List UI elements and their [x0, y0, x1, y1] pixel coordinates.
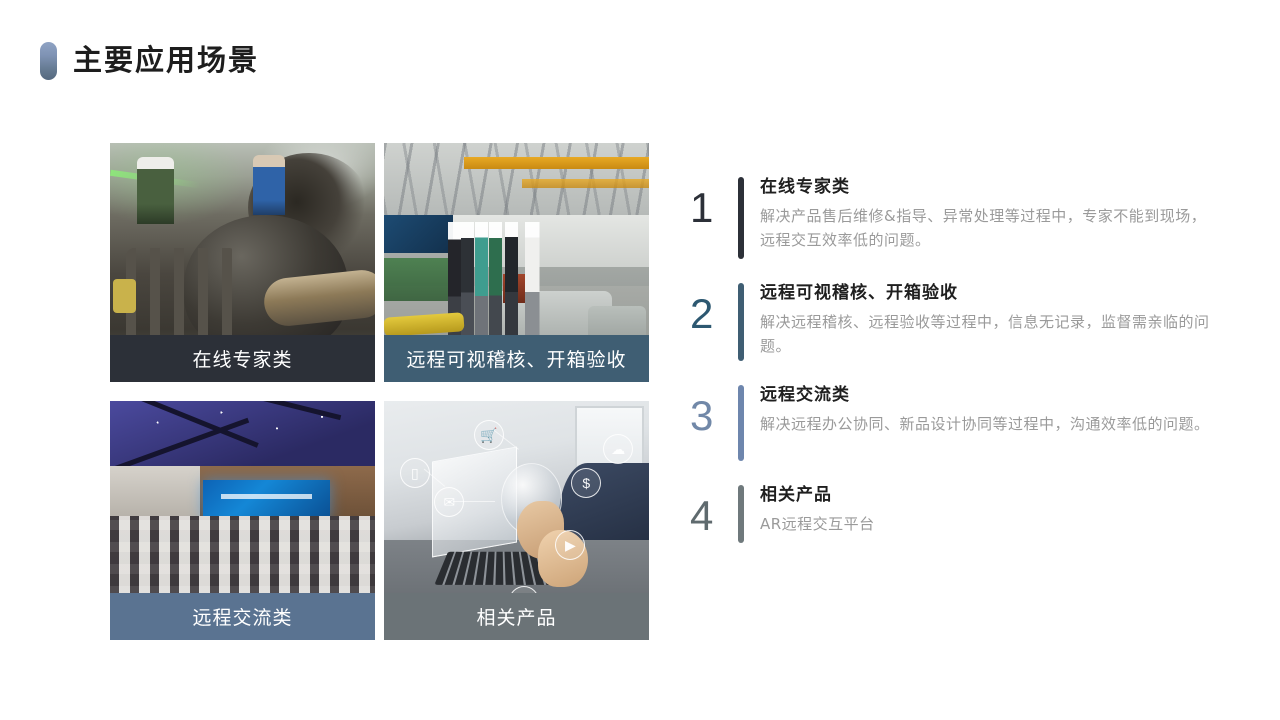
list-item-accent-bar: [738, 177, 744, 259]
scenario-card-caption: 相关产品: [384, 593, 649, 640]
list-item-title: 远程可视稽核、开箱验收: [760, 281, 1210, 307]
scenario-card-caption: 远程交流类: [110, 593, 375, 640]
list-item-accent-bar: [738, 283, 744, 361]
cart-icon: 🛒: [474, 420, 504, 450]
list-item-title: 相关产品: [760, 483, 1210, 509]
list-item-body: 解决产品售后维修&指导、异常处理等过程中，专家不能到现场，远程交互效率低的问题。: [760, 204, 1210, 254]
list-item-number: 4: [690, 483, 738, 537]
list-item[interactable]: 2 远程可视稽核、开箱验收 解决远程稽核、远程验收等过程中，信息无记录，监督需亲…: [690, 281, 1210, 361]
page-title: 主要应用场景: [73, 47, 259, 76]
list-item[interactable]: 3 远程交流类 解决远程办公协同、新品设计协同等过程中，沟通效率低的问题。: [690, 383, 1210, 461]
scenario-card-1[interactable]: 在线专家类: [110, 143, 375, 382]
list-item-body: 解决远程办公协同、新品设计协同等过程中，沟通效率低的问题。: [760, 412, 1210, 437]
list-item-body: AR远程交互平台: [760, 512, 1210, 537]
list-item-accent-bar: [738, 385, 744, 461]
phone-icon: ▯: [400, 458, 430, 488]
list-item-title: 在线专家类: [760, 175, 1210, 201]
list-item-number: 3: [690, 383, 738, 437]
scenario-card-2[interactable]: 远程可视稽核、开箱验收: [384, 143, 649, 382]
list-item-title: 远程交流类: [760, 383, 1210, 409]
list-item-number: 2: [690, 281, 738, 335]
scenario-card-caption: 在线专家类: [110, 335, 375, 382]
slide-header: 主要应用场景: [40, 42, 259, 80]
scenario-card-4[interactable]: 🛒 ☁ ▯ ✉ $ ▶ ▭ 相关产品: [384, 401, 649, 640]
list-item-number: 1: [690, 175, 738, 229]
scenario-card-caption: 远程可视稽核、开箱验收: [384, 335, 649, 382]
scenario-card-3[interactable]: 远程交流类: [110, 401, 375, 640]
list-item-accent-bar: [738, 485, 744, 543]
scenario-description-list: 1 在线专家类 解决产品售后维修&指导、异常处理等过程中，专家不能到现场，远程交…: [690, 175, 1210, 565]
scenario-image-grid: 在线专家类 远程可视稽核、开箱验收: [110, 143, 649, 640]
list-item-body: 解决远程稽核、远程验收等过程中，信息无记录，监督需亲临的问题。: [760, 310, 1210, 360]
list-item[interactable]: 4 相关产品 AR远程交互平台: [690, 483, 1210, 543]
list-item[interactable]: 1 在线专家类 解决产品售后维修&指导、异常处理等过程中，专家不能到现场，远程交…: [690, 175, 1210, 259]
pill-bullet-icon: [40, 42, 57, 80]
